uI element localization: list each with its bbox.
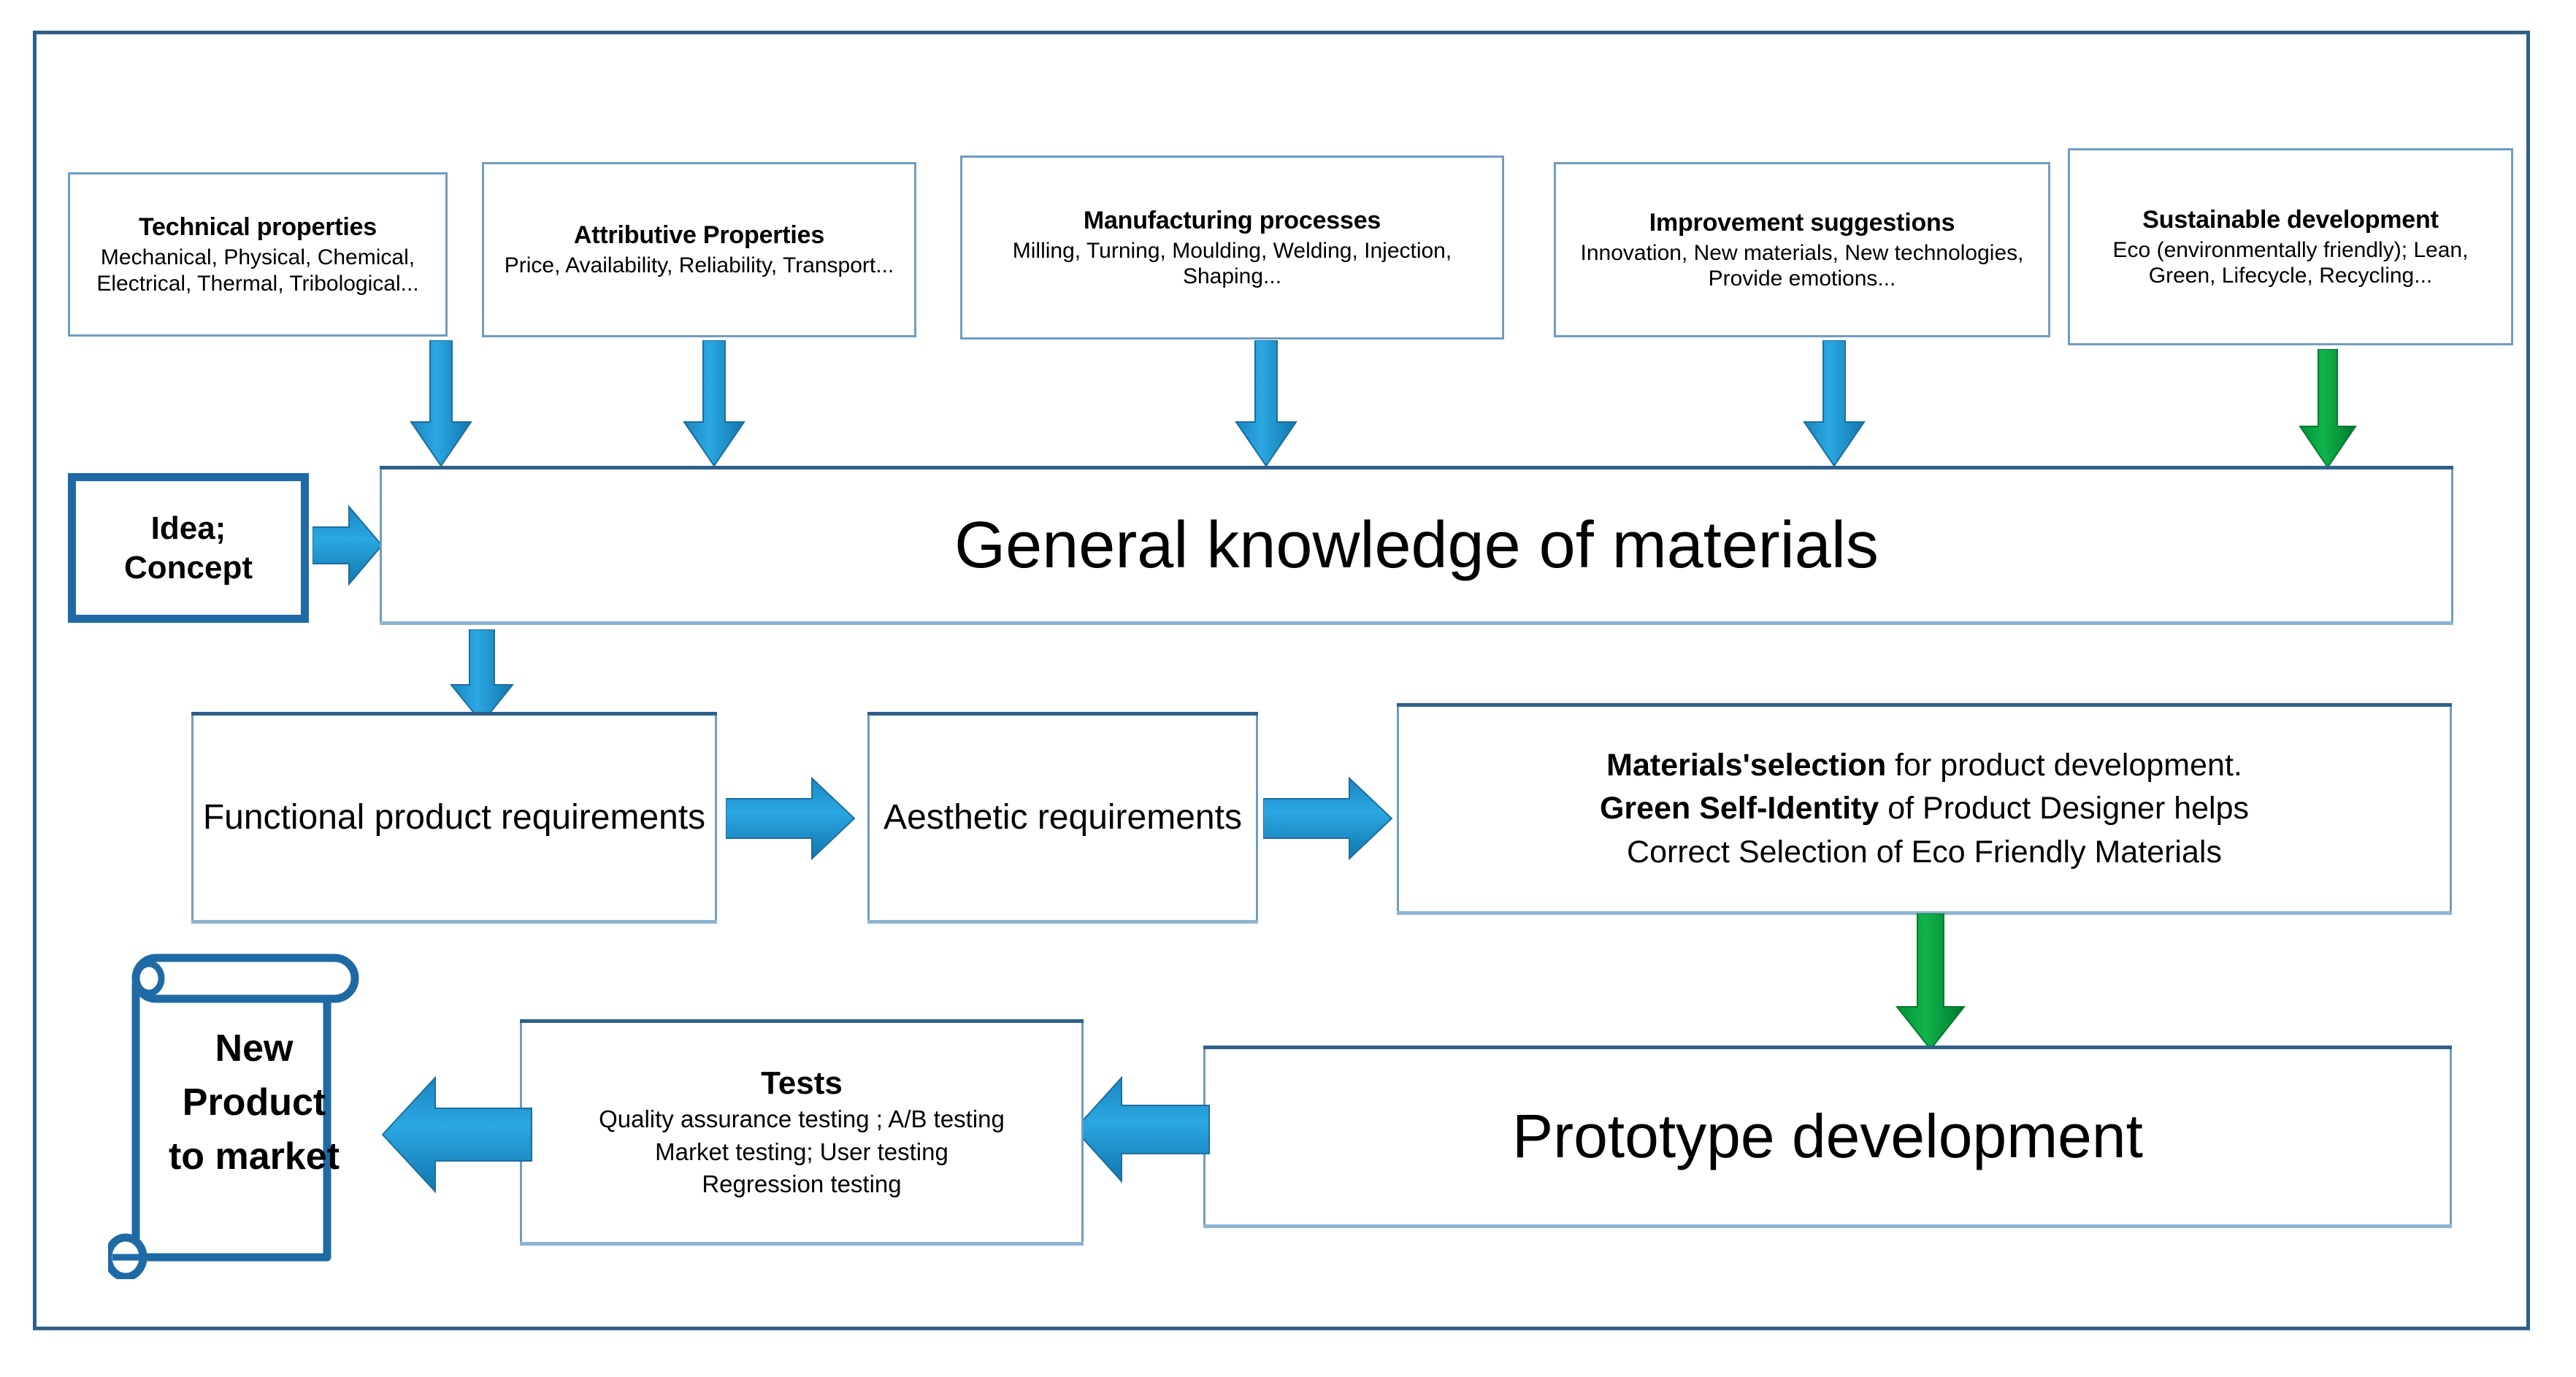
materials-selection-bold-1: Materials'selection	[1606, 748, 1886, 783]
new-product-label: New Product to market	[130, 1022, 378, 1184]
new-product-line-2: Product	[130, 1076, 378, 1130]
input-box-improvement-suggestions[interactable]: Improvement suggestions Innovation, New …	[1554, 162, 2050, 337]
idea-line-1: Idea;	[151, 509, 226, 548]
materials-selection-bold-2: Green Self-Identity	[1600, 791, 1879, 826]
arrow-attributive-to-general	[679, 340, 749, 468]
input-box-manufacturing-processes[interactable]: Manufacturing processes Milling, Turning…	[960, 156, 1504, 340]
arrow-technical-to-general	[406, 340, 476, 468]
idea-concept-box[interactable]: Idea; Concept	[68, 473, 309, 623]
input-box-title: Sustainable development	[2142, 205, 2438, 234]
input-box-detail: Mechanical, Physical, Chemical, Electric…	[77, 245, 438, 296]
idea-line-2: Concept	[124, 548, 253, 588]
arrow-prototype-to-tests	[1072, 1070, 1211, 1194]
arrow-materials-to-prototype	[1891, 913, 1971, 1052]
arrow-improvement-to-general	[1799, 340, 1869, 468]
functional-requirements-label: Functional product requirements	[203, 795, 705, 840]
new-product-to-market-scroll[interactable]: New Product to market	[108, 943, 393, 1279]
general-knowledge-box[interactable]: General knowledge of materials	[380, 466, 2453, 625]
materials-selection-line-3: Correct Selection of Eco Friendly Materi…	[1627, 831, 2222, 874]
materials-selection-box[interactable]: Materials'selection for product developm…	[1397, 703, 2452, 915]
input-box-detail: Eco (environmentally friendly); Lean, Gr…	[2077, 237, 2504, 289]
arrow-sustainable-to-general	[2293, 349, 2363, 469]
tests-line-3: Regression testing	[702, 1169, 901, 1200]
arrow-manufacturing-to-general	[1231, 340, 1301, 468]
input-box-technical-properties[interactable]: Technical properties Mechanical, Physica…	[68, 172, 448, 337]
tests-line-1: Quality assurance testing ; A/B testing	[599, 1104, 1005, 1135]
aesthetic-requirements-box[interactable]: Aesthetic requirements	[867, 712, 1258, 924]
tests-box[interactable]: Tests Quality assurance testing ; A/B te…	[520, 1019, 1084, 1246]
new-product-line-3: to market	[130, 1130, 378, 1184]
general-knowledge-label: General knowledge of materials	[954, 507, 1879, 584]
prototype-development-label: Prototype development	[1512, 1100, 2143, 1173]
input-box-title: Improvement suggestions	[1649, 208, 1955, 237]
aesthetic-requirements-label: Aesthetic requirements	[883, 795, 1242, 840]
materials-selection-rest-1: for product development.	[1886, 748, 2242, 783]
input-box-title: Attributive Properties	[574, 220, 824, 250]
tests-title: Tests	[761, 1065, 843, 1102]
input-box-detail: Price, Availability, Reliability, Transp…	[505, 253, 894, 278]
arrow-functional-to-aesthetic	[726, 775, 857, 862]
functional-requirements-box[interactable]: Functional product requirements	[191, 712, 717, 924]
input-box-title: Manufacturing processes	[1084, 206, 1381, 235]
input-box-sustainable-development[interactable]: Sustainable development Eco (environment…	[2068, 148, 2513, 345]
materials-selection-line-2: Green Self-Identity of Product Designer …	[1600, 787, 2249, 830]
tests-line-2: Market testing; User testing	[655, 1137, 948, 1168]
new-product-line-1: New	[130, 1022, 378, 1076]
input-box-detail: Milling, Turning, Moulding, Welding, Inj…	[970, 238, 1495, 290]
arrow-general-to-functional	[447, 629, 517, 724]
materials-selection-line-1: Materials'selection for product developm…	[1606, 744, 2242, 787]
arrow-aesthetic-to-materials	[1263, 775, 1395, 862]
prototype-development-box[interactable]: Prototype development	[1203, 1046, 2452, 1228]
input-box-title: Technical properties	[139, 212, 377, 242]
arrow-idea-to-general	[313, 502, 384, 588]
input-box-detail: Innovation, New materials, New technolog…	[1563, 240, 2041, 292]
materials-selection-rest-2: of Product Designer helps	[1879, 791, 2249, 826]
diagram-canvas: Technical properties Mechanical, Physica…	[0, 0, 2576, 1377]
input-box-attributive-properties[interactable]: Attributive Properties Price, Availabili…	[482, 162, 916, 337]
arrow-tests-to-newproduct	[380, 1070, 533, 1202]
